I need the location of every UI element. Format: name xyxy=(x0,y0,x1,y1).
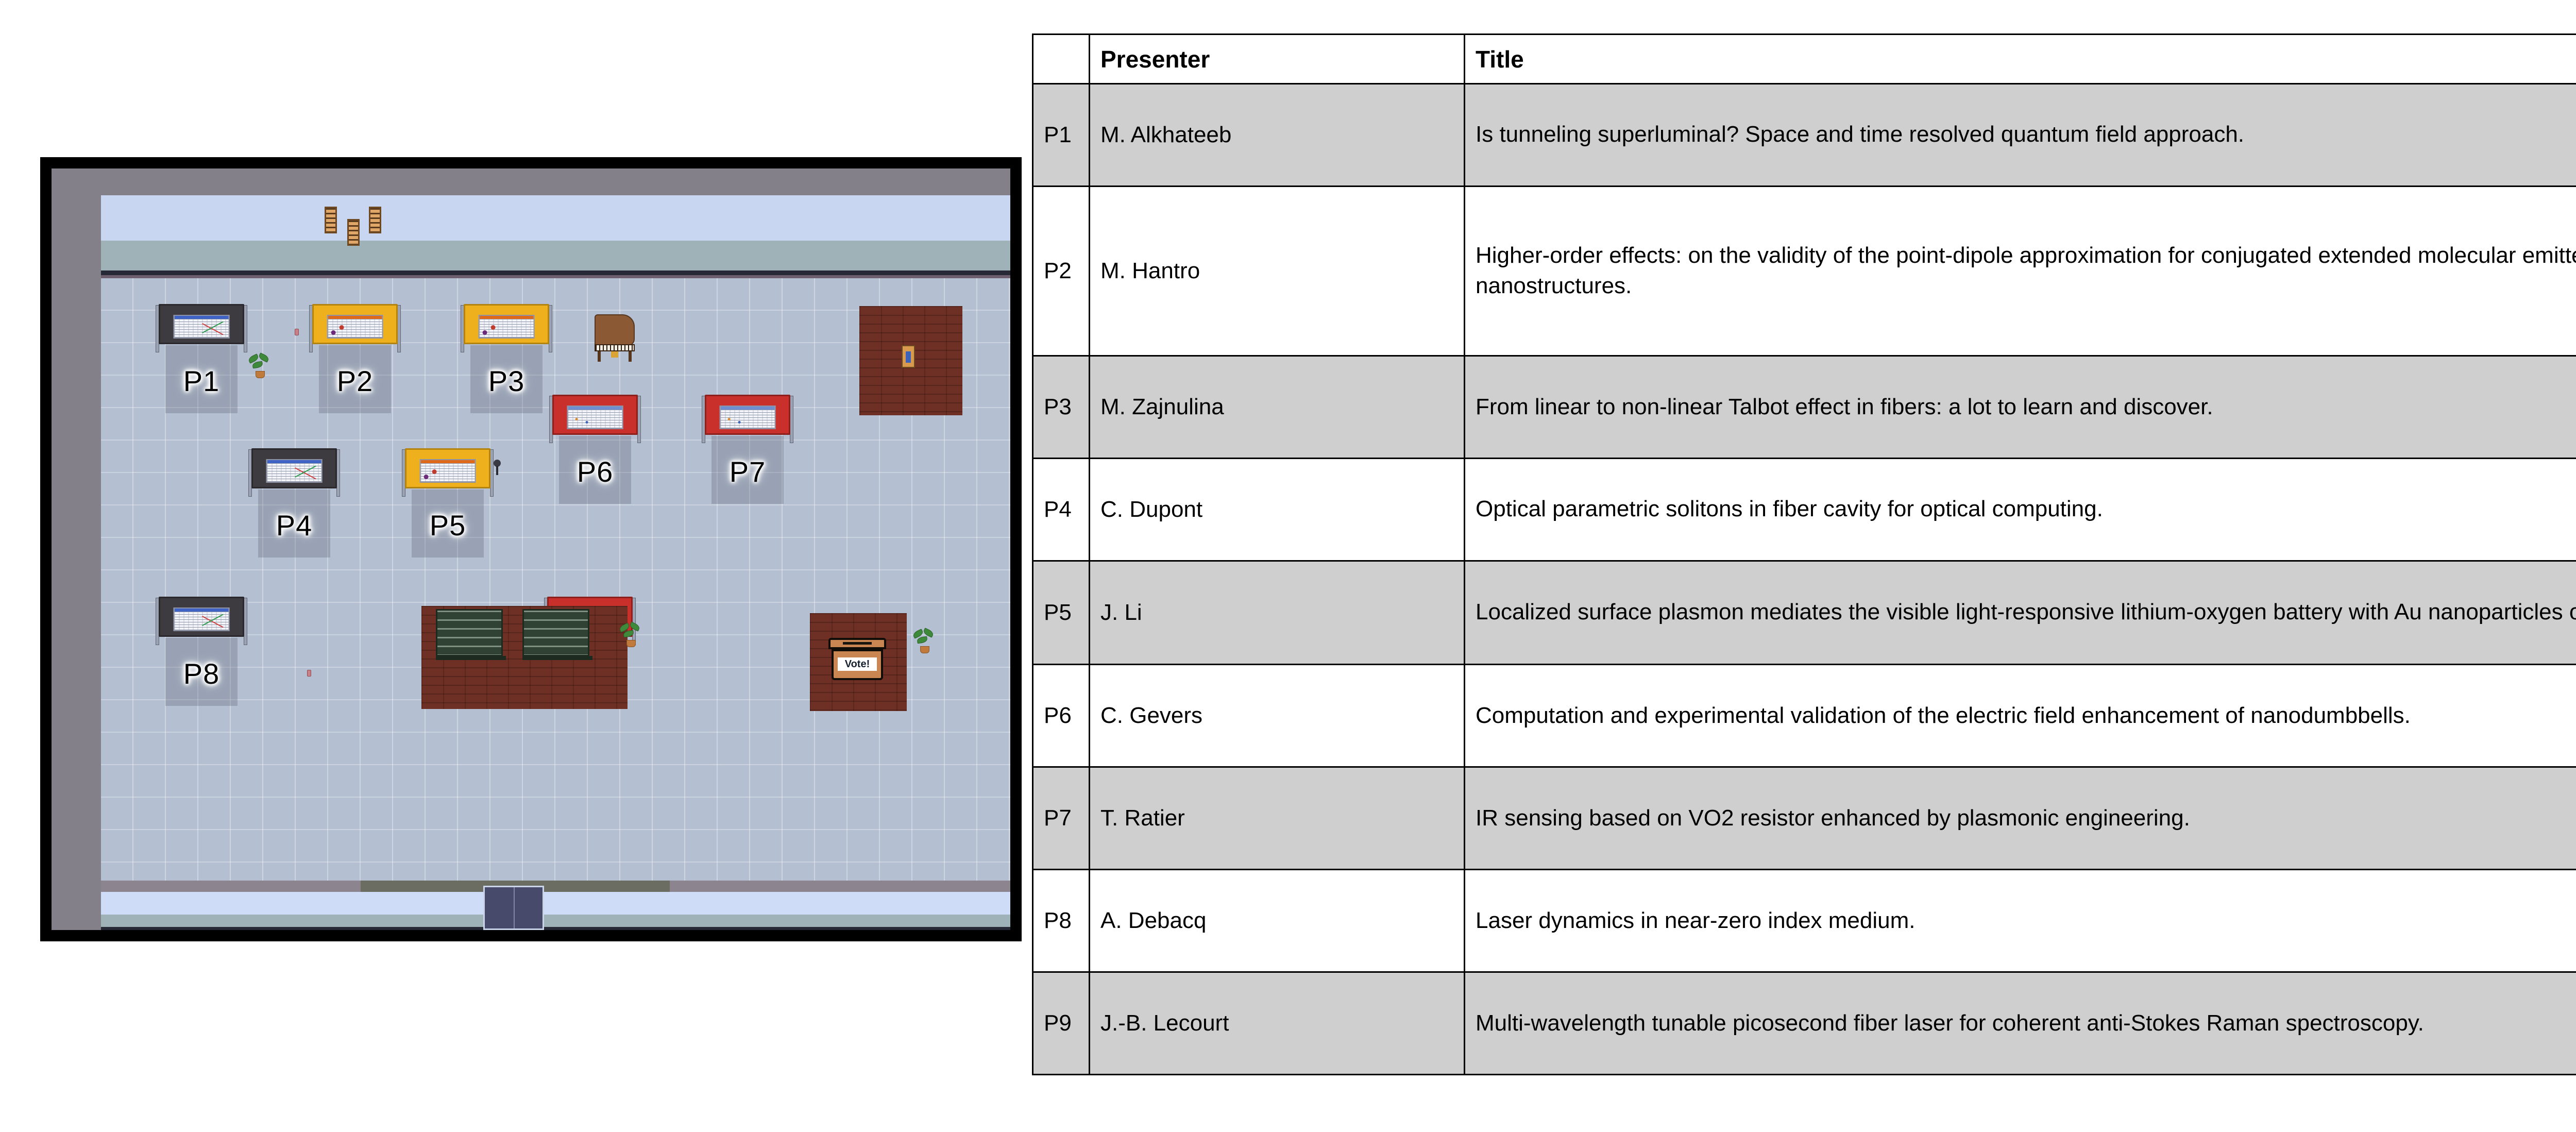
poster-blob-red xyxy=(432,469,437,474)
table-row[interactable]: P2 M. Hantro Higher-order effects: on th… xyxy=(1033,186,2576,356)
mic-stem xyxy=(496,466,498,475)
booth-label-p6: P6 xyxy=(552,458,638,486)
cell-presenter: J.-B. Lecourt xyxy=(1090,972,1465,1075)
schedule-table-wrapper: Presenter Title P1 M. Alkhateeb Is tunne… xyxy=(1032,33,2576,1075)
booth-label-p3: P3 xyxy=(464,367,549,396)
booth-leg-right xyxy=(637,396,641,443)
grand-piano-icon xyxy=(592,314,644,367)
cell-presenter: M. Hantro xyxy=(1090,186,1465,356)
brick-platform-bookshelves xyxy=(421,606,628,709)
poster-ispar-icon xyxy=(420,459,476,483)
poster-spectra-icon xyxy=(567,406,623,429)
table-row[interactable]: P1 M. Alkhateeb Is tunneling superlumina… xyxy=(1033,84,2576,187)
wall-poster-icon-2 xyxy=(347,219,360,246)
piano-leg-left xyxy=(598,351,601,362)
plant-pot xyxy=(256,371,265,378)
table-row[interactable]: P7 T. Ratier IR sensing based on VO2 res… xyxy=(1033,767,2576,870)
cell-id: P2 xyxy=(1033,186,1090,356)
wall-poster-icon-1 xyxy=(325,207,337,233)
plant-leaf xyxy=(252,361,263,369)
cell-id: P6 xyxy=(1033,665,1090,767)
cell-title: Computation and experimental validation … xyxy=(1465,665,2576,767)
cell-presenter: J. Li xyxy=(1090,561,1465,665)
booth-label-p2: P2 xyxy=(312,367,398,396)
poster-blob-red xyxy=(340,325,344,330)
title-main: Localized surface plasmon mediates the v… xyxy=(1476,599,2576,624)
poster-body xyxy=(480,319,534,339)
piano-leg-right xyxy=(629,351,632,362)
poster-line-red xyxy=(202,323,224,335)
poster-body xyxy=(175,319,229,339)
poster-board[interactable] xyxy=(705,395,790,435)
brick-panel-upper-right xyxy=(859,306,962,415)
cell-title: Localized surface plasmon mediates the v… xyxy=(1465,561,2576,665)
poster-body xyxy=(328,319,382,339)
presenters-table: Presenter Title P1 M. Alkhateeb Is tunne… xyxy=(1032,33,2576,1075)
booth-leg-right xyxy=(549,305,552,352)
cell-title: Higher-order effects: on the validity of… xyxy=(1465,186,2576,356)
poster-ispar-icon xyxy=(479,315,535,339)
poster-board[interactable] xyxy=(251,448,337,488)
cell-presenter: T. Ratier xyxy=(1090,767,1465,870)
poster-blob-blue xyxy=(738,421,741,424)
poster-board[interactable] xyxy=(159,304,244,344)
exit-door[interactable] xyxy=(483,886,544,930)
cell-id: P4 xyxy=(1033,458,1090,561)
table-row[interactable]: P9 J.-B. Lecourt Multi-wavelength tunabl… xyxy=(1033,972,2576,1075)
poster-blob-blue xyxy=(586,421,588,424)
poster-line-red xyxy=(202,616,224,628)
poster-line-green xyxy=(295,465,317,477)
cell-presenter: A. Debacq xyxy=(1090,870,1465,972)
cell-presenter: C. Dupont xyxy=(1090,458,1465,561)
top-wall-band-lower xyxy=(101,241,1010,271)
cell-title: Is tunneling superluminal? Space and tim… xyxy=(1465,84,2576,187)
top-wall-trim xyxy=(101,271,1010,275)
poster-blob-purple xyxy=(483,330,487,335)
poster-blob-purple xyxy=(424,475,429,479)
booth-leg-right xyxy=(336,449,340,497)
booth-label-p7: P7 xyxy=(705,458,790,486)
bookshelf-icon-1 xyxy=(436,609,503,656)
plant-pot xyxy=(920,646,929,653)
cell-id: P3 xyxy=(1033,356,1090,459)
booth-label-p8: P8 xyxy=(159,660,244,688)
poster-blob-purple xyxy=(331,330,336,335)
poster-board[interactable] xyxy=(312,304,398,344)
bottom-wall-trim xyxy=(101,927,1010,930)
ballot-box-slot xyxy=(843,642,872,645)
piano-keys xyxy=(595,344,635,351)
potted-plant-icon-2 xyxy=(620,618,642,647)
poster-chart-icon xyxy=(174,315,230,339)
poster-blob-orange xyxy=(575,418,578,420)
piano-pedal xyxy=(611,351,618,358)
ballot-box[interactable]: Vote! xyxy=(828,638,886,680)
cell-title: Multi-wavelength tunable picosecond fibe… xyxy=(1465,972,2576,1075)
poster-blob-red xyxy=(491,325,496,330)
poster-body xyxy=(267,463,321,483)
cell-presenter: C. Gevers xyxy=(1090,665,1465,767)
poster-ispar-icon xyxy=(327,315,383,339)
poster-line-green xyxy=(202,614,224,626)
booth-leg-right xyxy=(790,396,793,443)
piano-body xyxy=(595,314,635,346)
floor-item-icon-2 xyxy=(307,670,311,677)
booth-label-p5: P5 xyxy=(405,511,490,540)
cell-id: P5 xyxy=(1033,561,1090,665)
potted-plant-icon-3 xyxy=(914,624,936,653)
wall-poster-icon-3 xyxy=(369,207,381,233)
table-row[interactable]: P6 C. Gevers Computation and experimenta… xyxy=(1033,665,2576,767)
poster-body xyxy=(721,410,775,429)
cell-title: Laser dynamics in near-zero index medium… xyxy=(1465,870,2576,972)
cell-presenter: M. Zajnulina xyxy=(1090,356,1465,459)
cell-id: P8 xyxy=(1033,870,1090,972)
column-header-presenter: Presenter xyxy=(1090,35,1465,84)
table-header-row: Presenter Title xyxy=(1033,35,2576,84)
cell-presenter: M. Alkhateeb xyxy=(1090,84,1465,187)
floor-item-icon-1 xyxy=(295,329,299,335)
brick-platform-ballot: Vote! xyxy=(810,613,907,711)
poster-body xyxy=(421,463,475,483)
poster-chart-icon xyxy=(266,459,323,483)
table-row[interactable]: P5 J. Li Localized surface plasmon media… xyxy=(1033,561,2576,665)
poster-chart-icon xyxy=(174,607,230,631)
booth-label-p1: P1 xyxy=(159,367,244,396)
poster-board[interactable] xyxy=(405,448,490,488)
poster-body xyxy=(175,612,229,631)
display-case-icon xyxy=(902,345,915,368)
cell-title: Optical parametric solitons in fiber cav… xyxy=(1465,458,2576,561)
bottom-wall-band xyxy=(101,892,1010,917)
plant-leaf xyxy=(917,636,927,644)
column-header-id xyxy=(1033,35,1090,84)
booth-label-p4: P4 xyxy=(251,511,337,540)
cell-title: IR sensing based on VO2 resistor enhance… xyxy=(1465,767,2576,870)
table-row[interactable]: P3 M. Zajnulina From linear to non-linea… xyxy=(1033,356,2576,459)
column-header-title: Title xyxy=(1465,35,2576,84)
booth-leg-right xyxy=(397,305,401,352)
bookshelf-icon-2 xyxy=(522,609,589,656)
poster-board[interactable] xyxy=(552,395,638,435)
table-row[interactable]: P8 A. Debacq Laser dynamics in near-zero… xyxy=(1033,870,2576,972)
plant-leaf xyxy=(623,630,634,638)
cell-id: P7 xyxy=(1033,767,1090,870)
booth-leg-right xyxy=(244,598,247,645)
ballot-box-label: Vote! xyxy=(838,657,877,671)
booth-leg-right xyxy=(244,305,247,352)
cell-id: P1 xyxy=(1033,84,1090,187)
poster-body xyxy=(568,410,622,429)
microphone-icon xyxy=(493,460,502,475)
cell-title: From linear to non-linear Talbot effect … xyxy=(1465,356,2576,459)
room-floor[interactable]: P1 P2 xyxy=(101,278,1010,883)
bottom-wall-band-lower xyxy=(101,915,1010,928)
poster-line-green xyxy=(202,321,224,333)
plant-pot xyxy=(626,640,636,647)
table-row[interactable]: P4 C. Dupont Optical parametric solitons… xyxy=(1033,458,2576,561)
poster-spectra-icon xyxy=(720,406,776,429)
virtual-room-map[interactable]: P1 P2 xyxy=(40,157,1022,941)
poster-line-red xyxy=(295,467,317,479)
potted-plant-icon-1 xyxy=(249,349,271,378)
poster-board[interactable] xyxy=(159,597,244,637)
cell-id: P9 xyxy=(1033,972,1090,1075)
poster-blob-orange xyxy=(728,418,731,420)
room-outer-wall: P1 P2 xyxy=(52,168,1010,930)
poster-board[interactable] xyxy=(464,304,549,344)
